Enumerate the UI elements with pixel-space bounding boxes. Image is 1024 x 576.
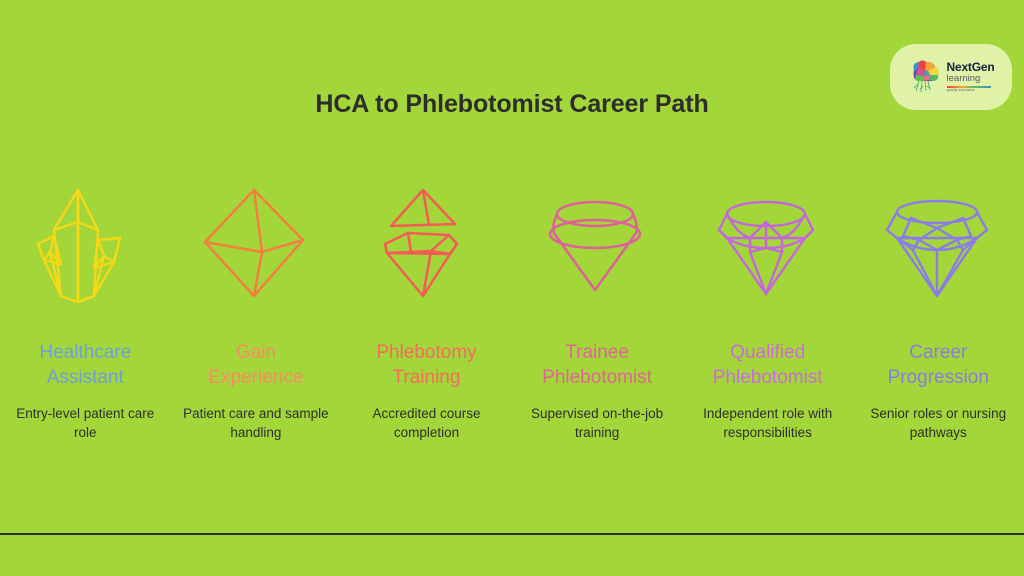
step-heading-line1: Phlebotomy — [376, 342, 476, 363]
step-description: Supervised on-the-job training — [512, 404, 683, 442]
exploded-gem-icon — [361, 178, 491, 308]
octahedron-gem-icon-wrap — [191, 168, 321, 318]
step-heading-line1: Career — [909, 342, 967, 363]
step-trainee-phlebotomist: Trainee Phlebotomist Supervised on-the-j… — [512, 168, 683, 442]
exploded-gem-icon-wrap — [361, 168, 491, 318]
career-path-steps: Healthcare Assistant Entry-level patient… — [0, 168, 1024, 442]
step-gain-experience: Gain Experience Patient care and sample … — [171, 168, 342, 442]
step-healthcare-assistant: Healthcare Assistant Entry-level patient… — [0, 168, 171, 442]
round-cut-gem-icon-wrap — [532, 168, 662, 318]
step-description: Independent role with responsibilities — [682, 404, 853, 442]
step-career-progression: Career Progression Senior roles or nursi… — [853, 168, 1024, 442]
brilliant-cut-gem-icon — [703, 178, 833, 308]
step-qualified-phlebotomist: Qualified Phlebotomist Independent role … — [682, 168, 853, 442]
step-heading-line1: Healthcare — [39, 342, 131, 363]
step-heading: Phlebotomy Training — [376, 340, 476, 390]
step-heading-line2: Training — [393, 367, 461, 388]
logo-text-block: NextGen learning quality education — [947, 61, 995, 93]
step-heading: Qualified Phlebotomist — [713, 340, 823, 390]
crystal-cluster-icon-wrap — [20, 168, 150, 318]
step-description: Patient care and sample handling — [171, 404, 342, 442]
bottom-divider-rule — [0, 533, 1024, 535]
step-heading-line2: Progression — [888, 367, 989, 388]
step-heading: Gain Experience — [208, 340, 303, 390]
step-description: Accredited course completion — [341, 404, 512, 442]
round-cut-gem-icon — [532, 178, 662, 308]
step-heading-line2: Phlebotomist — [713, 367, 823, 388]
logo-name: NextGen — [947, 61, 995, 73]
logo-subtitle: learning — [947, 74, 995, 84]
step-description: Entry-level patient care role — [0, 404, 171, 442]
step-heading-line2: Assistant — [47, 367, 124, 388]
crystal-cluster-icon — [20, 178, 150, 308]
step-heading-line1: Trainee — [565, 342, 629, 363]
step-heading-line1: Qualified — [730, 342, 805, 363]
step-heading: Career Progression — [888, 340, 989, 390]
step-heading: Trainee Phlebotomist — [542, 340, 652, 390]
step-heading-line2: Phlebotomist — [542, 367, 652, 388]
step-heading-line2: Experience — [208, 367, 303, 388]
step-description: Senior roles or nursing pathways — [853, 404, 1024, 442]
faceted-diamond-icon — [873, 178, 1003, 308]
brilliant-cut-gem-icon-wrap — [703, 168, 833, 318]
step-heading: Healthcare Assistant — [39, 340, 131, 390]
step-phlebotomy-training: Phlebotomy Training Accredited course co… — [341, 168, 512, 442]
page-title: HCA to Phlebotomist Career Path — [0, 90, 1024, 119]
faceted-diamond-icon-wrap — [873, 168, 1003, 318]
octahedron-gem-icon — [191, 178, 321, 308]
step-heading-line1: Gain — [236, 342, 276, 363]
